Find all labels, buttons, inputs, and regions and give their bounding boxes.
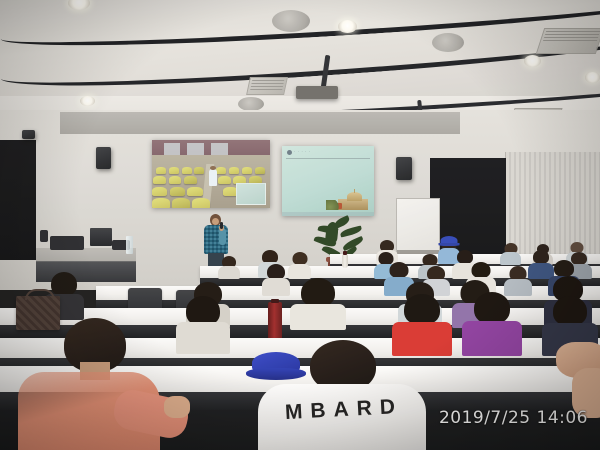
foreground-person-hand	[164, 396, 190, 418]
ceiling-vent	[246, 77, 288, 95]
audience-torso	[262, 278, 290, 296]
audience-torso	[288, 264, 311, 279]
audience-head	[390, 262, 409, 278]
plant-leaf	[325, 221, 339, 242]
lecture-hall-photograph: · · · · ·	[0, 0, 600, 450]
audience-member	[218, 256, 240, 279]
slide-building-dome	[347, 192, 362, 201]
audience-head	[553, 296, 587, 326]
camera-timestamp: 2019/7/25 14:06	[439, 408, 588, 428]
screen-left-seat	[194, 167, 203, 174]
audience-head	[554, 260, 574, 277]
screen-left-person	[209, 169, 217, 187]
audience-member	[290, 278, 346, 330]
lectern-equipment	[40, 230, 48, 242]
screen-left-seat	[216, 167, 227, 174]
audience-head	[51, 272, 77, 296]
ceiling-downlight	[524, 55, 541, 67]
audience-torso	[500, 252, 521, 265]
audience-torso	[176, 322, 230, 354]
foreground-person-orange-shirt	[18, 318, 178, 450]
screen-left-seat	[187, 187, 202, 197]
slide-logo-text: · · · · ·	[294, 150, 311, 154]
foreground-person-white-jacket: MBARD	[258, 340, 426, 450]
microphone-icon	[220, 222, 223, 229]
screen-left-seat	[169, 167, 180, 174]
screen-left-seat	[182, 167, 193, 174]
presenter-face	[212, 218, 219, 225]
screen-left-seat	[153, 176, 166, 184]
audience-member	[462, 292, 522, 356]
audience-member	[176, 296, 230, 354]
screen-left-seat	[169, 176, 182, 184]
whiteboard	[396, 198, 440, 252]
red-water-bottle	[268, 302, 282, 342]
audience-head	[404, 294, 440, 325]
screen-left-seat	[172, 198, 190, 208]
ceiling-vent	[536, 28, 600, 54]
projector	[296, 86, 338, 99]
ceiling-downlight	[80, 96, 95, 106]
blue-cap	[441, 236, 458, 245]
ceiling-speaker-icon	[238, 97, 264, 111]
slide-university-logo-icon	[287, 150, 292, 155]
audience-member	[500, 243, 521, 265]
slide-building-image	[326, 188, 372, 212]
audience-head	[474, 292, 510, 324]
screen-left-seat	[255, 167, 266, 174]
wall-left-dark-panel	[0, 140, 36, 260]
audience-member	[288, 252, 311, 279]
projection-screen-right: · · · · ·	[282, 146, 374, 216]
audience-torso	[462, 321, 522, 356]
wall-speaker-icon	[22, 130, 35, 139]
ceiling-downlight	[585, 72, 600, 83]
audience-torso	[290, 304, 346, 330]
ceiling-downlight	[338, 20, 357, 33]
lectern-equipment	[50, 236, 84, 250]
screen-left-seat	[184, 176, 197, 184]
wall-soffit	[60, 112, 460, 134]
audience-head	[472, 262, 491, 278]
screen-left-seat	[152, 198, 170, 208]
screen-left-picture-in-picture	[236, 183, 266, 205]
screen-left-seat	[192, 198, 210, 208]
screen-left-seat	[229, 167, 240, 174]
ceiling-speaker-icon	[272, 10, 310, 32]
water-bottle	[126, 236, 133, 254]
audience-head	[301, 278, 335, 307]
screen-left-seat	[218, 176, 231, 184]
lectern-monitor	[90, 228, 112, 246]
screen-left-seat	[170, 187, 185, 197]
wall-speaker-icon	[396, 157, 412, 180]
slide-building-trees	[326, 200, 340, 210]
audience-head	[533, 250, 549, 264]
audience-torso	[218, 266, 240, 279]
screen-left-person-head	[210, 166, 216, 170]
audience-member	[262, 264, 290, 296]
screen-left-seat	[242, 167, 253, 174]
slide-divider	[286, 158, 370, 159]
ceiling-speaker-icon	[432, 33, 464, 52]
wall-speaker-icon	[96, 147, 111, 169]
projection-screen-left	[152, 140, 270, 208]
water-bottle	[342, 254, 348, 268]
screen-left-seat	[156, 167, 167, 174]
screen-left-seat	[152, 187, 167, 197]
